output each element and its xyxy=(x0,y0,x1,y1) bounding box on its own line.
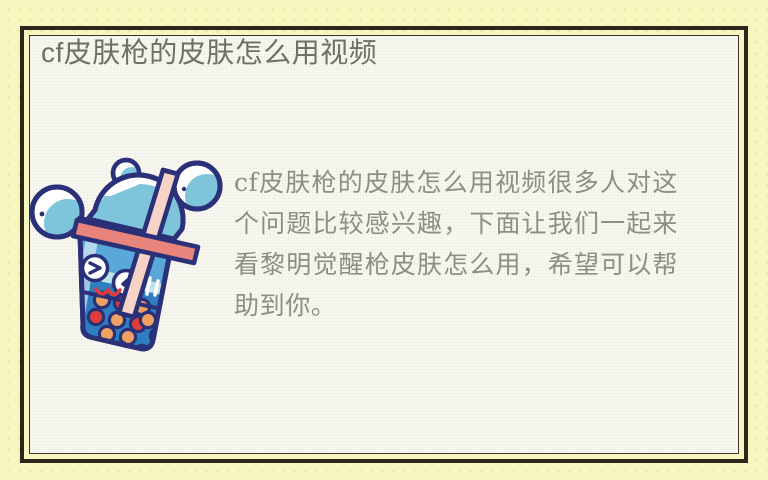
page-title: cf皮肤枪的皮肤怎么用视频 xyxy=(41,36,377,70)
bubble-tea-svg xyxy=(22,150,232,365)
bubble-tea-illustration xyxy=(22,150,232,365)
article-body-text: cf皮肤枪的皮肤怎么用视频很多人对这个问题比较感兴趣，下面让我们一起来看黎明觉醒… xyxy=(234,162,678,326)
page-root: cf皮肤枪的皮肤怎么用视频 xyxy=(0,0,768,480)
